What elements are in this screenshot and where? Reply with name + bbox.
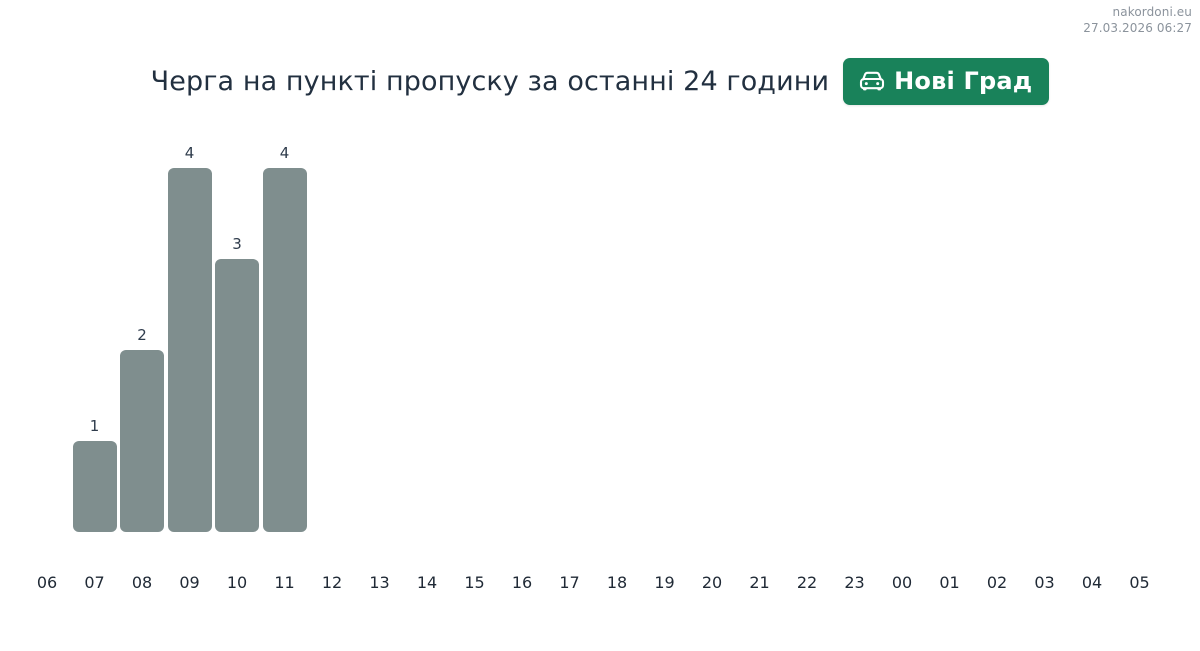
bar[interactable]	[168, 168, 212, 532]
bar[interactable]	[263, 168, 307, 532]
x-tick-label: 10	[215, 572, 259, 594]
x-tick-label: 18	[595, 572, 639, 594]
chart-page: nakordoni.eu 27.03.2026 06:27 Черга на п…	[0, 0, 1200, 651]
bar-column[interactable]: 4	[168, 146, 212, 532]
bar-value-label: 1	[90, 419, 100, 434]
x-tick-label: 15	[453, 572, 497, 594]
x-tick-label: 11	[263, 572, 307, 594]
bar-value-label: 2	[137, 328, 147, 343]
bar-value-label: 4	[280, 146, 290, 161]
bar[interactable]	[73, 441, 117, 532]
bar[interactable]	[120, 350, 164, 532]
x-tick-label: 09	[168, 572, 212, 594]
x-tick-label: 00	[880, 572, 924, 594]
bar-value-label: 3	[232, 237, 242, 252]
x-tick-label: 21	[738, 572, 782, 594]
bar[interactable]	[215, 259, 259, 532]
x-tick-label: 04	[1070, 572, 1114, 594]
x-tick-label: 01	[928, 572, 972, 594]
x-tick-label: 19	[643, 572, 687, 594]
x-tick-label: 14	[405, 572, 449, 594]
x-tick-label: 02	[975, 572, 1019, 594]
x-tick-label: 20	[690, 572, 734, 594]
x-tick-label: 03	[1023, 572, 1067, 594]
x-axis: 0607080910111213141516171819202122230001…	[0, 572, 1200, 594]
x-tick-label: 23	[833, 572, 877, 594]
bar-column[interactable]: 2	[120, 328, 164, 532]
x-tick-label: 17	[548, 572, 592, 594]
x-tick-label: 13	[358, 572, 402, 594]
bar-column[interactable]: 1	[73, 419, 117, 532]
x-tick-label: 16	[500, 572, 544, 594]
bar-column[interactable]: 4	[263, 146, 307, 532]
x-tick-label: 07	[73, 572, 117, 594]
x-tick-label: 22	[785, 572, 829, 594]
bar-chart-plot: 12434	[0, 0, 1200, 651]
x-tick-label: 08	[120, 572, 164, 594]
bar-column[interactable]: 3	[215, 237, 259, 532]
bar-value-label: 4	[185, 146, 195, 161]
x-tick-label: 06	[25, 572, 69, 594]
x-tick-label: 12	[310, 572, 354, 594]
x-tick-label: 05	[1118, 572, 1162, 594]
